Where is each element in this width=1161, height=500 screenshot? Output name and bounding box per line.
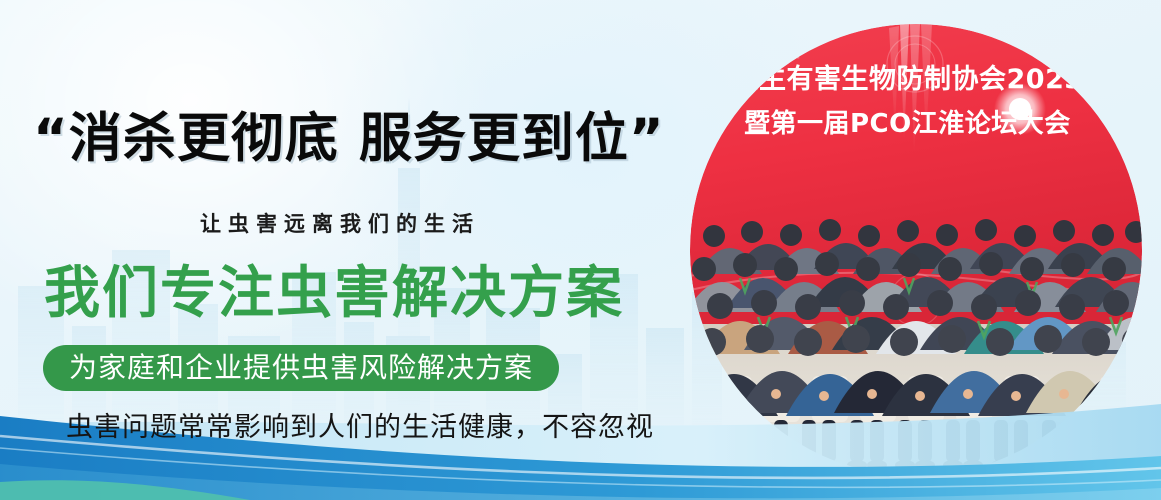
banner-tagline-pill: 为家庭和企业提供虫害风险解决方案: [43, 345, 559, 391]
backdrop-logo-text: 防制协会: [748, 45, 801, 61]
promo-banner: 防制协会 市卫生有害生物防制协会2023年会 暨第一届PCO江淮论坛大会: [0, 0, 1161, 500]
banner-footnote: 虫害问题常常影响到人们的生活健康，不容忽视: [66, 405, 654, 444]
headline-part-1: “消杀更彻底: [33, 108, 339, 169]
banner-green-headline: 我们专注虫害解决方案: [44, 266, 624, 322]
banner-subtitle: 让虫害远离我们的生活: [200, 208, 480, 238]
conference-photo: 防制协会 市卫生有害生物防制协会2023年会 暨第一届PCO江淮论坛大会: [690, 24, 1142, 476]
headline-part-2: 服务更到位”: [359, 108, 665, 169]
conference-photo-circle: 防制协会 市卫生有害生物防制协会2023年会 暨第一届PCO江淮论坛大会: [690, 24, 1142, 476]
banner-headline: “消杀更彻底服务更到位”: [33, 112, 665, 165]
banner-copy: “消杀更彻底服务更到位” 让虫害远离我们的生活 我们专注虫害解决方案 为家庭和企…: [0, 0, 730, 500]
